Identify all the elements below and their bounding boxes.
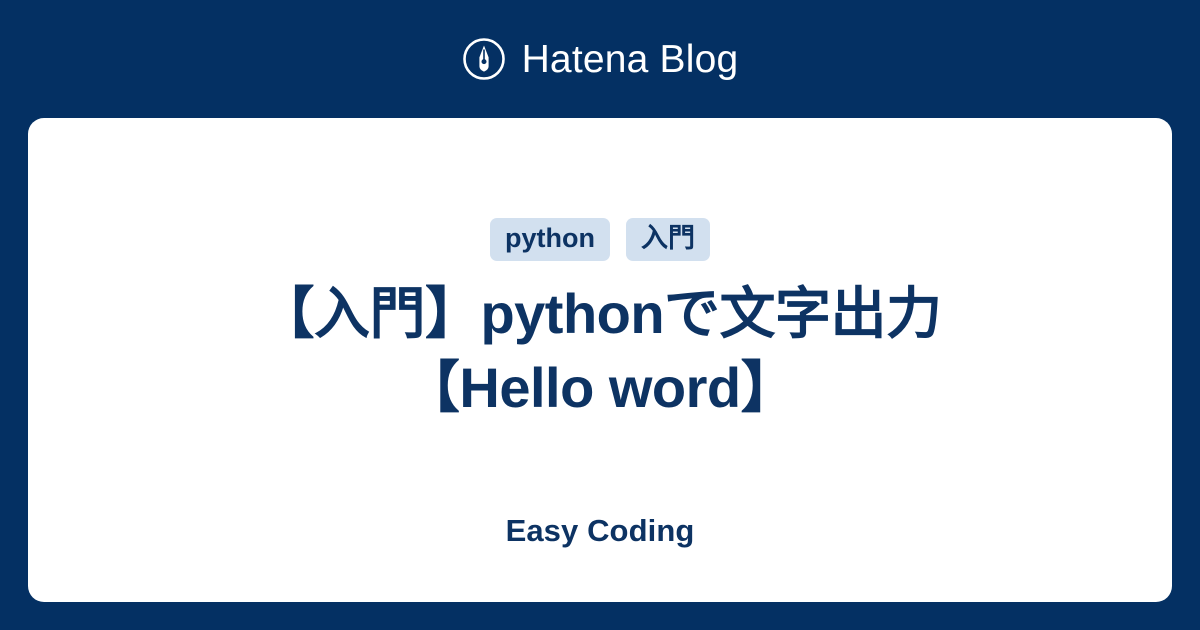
entry-title-line-2: 【Hello word】 xyxy=(404,356,796,419)
brand-name: Hatena Blog xyxy=(522,40,739,79)
tag-chip-nyumon[interactable]: 入門 xyxy=(626,218,710,261)
entry-title-line-1: 【入門】pythonで文字出力 xyxy=(258,282,941,345)
brand-header: Hatena Blog xyxy=(0,0,1200,118)
entry-card: python 入門 【入門】pythonで文字出力 【Hello word】 E… xyxy=(28,118,1172,602)
hatena-blog-og-card: Hatena Blog python 入門 【入門】pythonで文字出力 【H… xyxy=(0,0,1200,630)
tag-chip-python[interactable]: python xyxy=(490,218,610,261)
entry-title: 【入門】pythonで文字出力 【Hello word】 xyxy=(218,277,981,425)
blog-title[interactable]: Easy Coding xyxy=(506,512,695,549)
hatena-pen-nib-icon xyxy=(462,37,506,81)
blog-title-wrap: Easy Coding xyxy=(28,512,1172,549)
tag-list: python 入門 xyxy=(490,218,710,261)
